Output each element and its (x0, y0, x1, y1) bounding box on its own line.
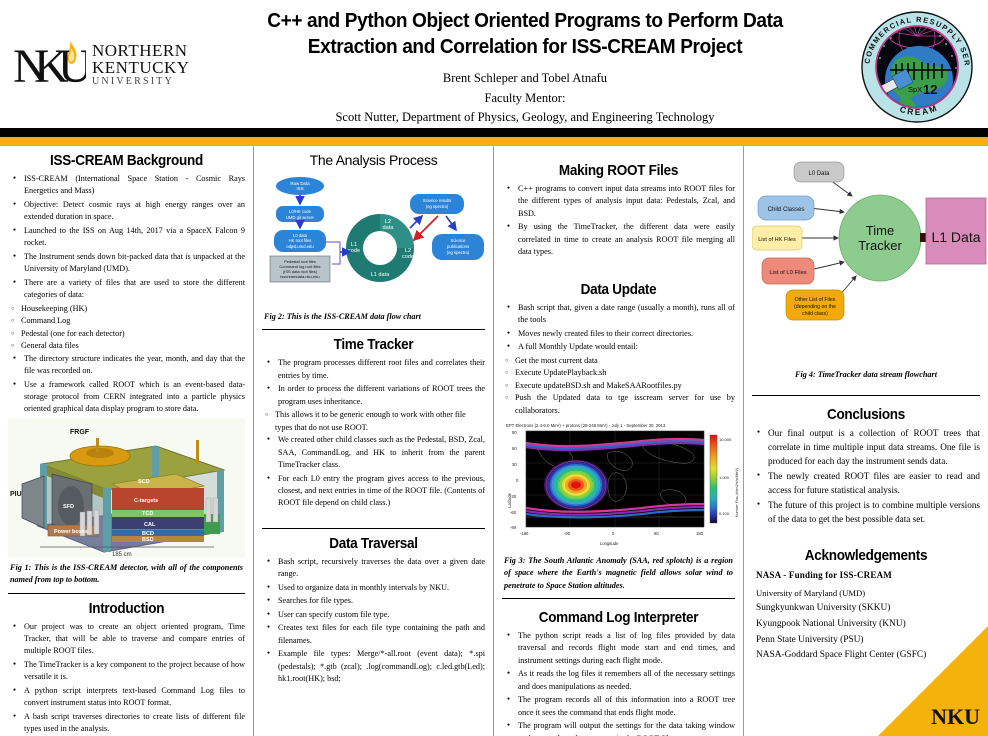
poster-columns: ISS-CREAM Background ISS-CREAM (Internat… (0, 146, 988, 736)
list-item: For each L0 entry the program gives acce… (277, 473, 485, 510)
fig4-node-center-2: Tracker (858, 238, 902, 253)
figure-1-caption: Fig 1: This is the ISS-CREAM detector, w… (10, 562, 243, 587)
list-item: In order to process the different variat… (277, 383, 485, 408)
traversal-bullets: Bash script, recursively traverses the d… (264, 556, 485, 686)
column-2: The Analysis Process L2 data L1 code L2 … (253, 146, 493, 736)
nku-logo-mark-icon: N K U (14, 36, 86, 92)
section-title-conclusions: Conclusions (763, 406, 968, 423)
list-item: We created other child classes such as t… (277, 434, 485, 471)
svg-text:CAL: CAL (144, 522, 156, 528)
list-item: C++ programs to convert input data strea… (517, 183, 735, 220)
command-log-bullets: The python script reads a list of log fi… (504, 630, 735, 736)
svg-text:C-targets: C-targets (134, 498, 158, 504)
poster-authors: Brent Schleper and Tobel Atnafu (205, 69, 845, 88)
fig2-node-l1-data: L1 data (371, 272, 391, 278)
list-item: Push the Updated data to tge isscream se… (515, 392, 735, 417)
colorbar-tick-2: 1.000 (719, 475, 730, 480)
chart-ylabel: Latitude (507, 492, 512, 508)
svg-text:90: 90 (654, 531, 659, 536)
list-item: Searches for file types. (277, 595, 485, 607)
list-item: Execute UpdatePlayback.sh (515, 367, 735, 379)
svg-text:-180: -180 (520, 531, 529, 536)
fig4-node-l0-data: L0 Data (808, 171, 830, 177)
list-item: Housekeeping (HK) (21, 303, 245, 315)
list-item: NASA-Goddard Space Flight Center (GSFC) (756, 648, 980, 663)
section-title-analysis-process: The Analysis Process (262, 152, 485, 168)
data-update-bullets: Bash script that, given a date range (us… (504, 302, 735, 354)
list-item: Execute updateBSD.sh and MakeSAARootfile… (515, 380, 735, 392)
svg-text:90: 90 (512, 430, 517, 435)
svg-text:-90: -90 (564, 531, 571, 536)
nku-wordmark: NORTHERN KENTUCKY UNIVERSITY (92, 42, 190, 87)
divider-conclusions (752, 395, 980, 396)
fig2-node-l1-code-2: code (348, 248, 360, 254)
column-3: Making ROOT Files C++ programs to conver… (493, 146, 743, 736)
list-item: This allows it to be generic enough to w… (275, 409, 485, 434)
nku-word-northern: NORTHERN (92, 42, 190, 59)
poster-root: N K U NORTHERN KENTUCKY UNIVERSITY C++ a… (0, 0, 988, 736)
list-item: Bash script, recursively traverses the d… (277, 556, 485, 581)
list-item: NASA - Funding for ISS-CREAM (756, 568, 980, 583)
data-update-subbullets: Get the most current data Execute Update… (502, 355, 735, 417)
svg-text:BSD: BSD (142, 537, 154, 543)
list-item: A python script interprets text-based Co… (23, 685, 245, 710)
fig4-node-l0-files: List of L0 Files (769, 270, 806, 276)
divider-traversal (262, 528, 485, 529)
fig2-node-science-pubs-2: publications (447, 244, 469, 249)
list-item: Moves newly created files to their corre… (517, 328, 735, 340)
list-item: Get the most current data (515, 355, 735, 367)
fig4-node-output: L1 Data (931, 229, 980, 245)
fig2-node-science-pubs: Science (451, 238, 467, 243)
colorbar-tick-3: 0.100 (719, 511, 730, 516)
nku-word-university: UNIVERSITY (92, 77, 190, 87)
colorbar-label: Number Flux (#/cm2/s/sr/MeV) (735, 468, 739, 517)
fig2-node-l0hk-code-2: UMD git server (286, 215, 315, 220)
svg-text:Power boxes: Power boxes (54, 529, 88, 535)
column-4: L0 Data Child Classes List of HK Files L… (743, 146, 988, 736)
section-title-making-root-files: Making ROOT Files (514, 162, 724, 179)
fig4-node-other-files-3: child class) (802, 311, 828, 317)
list-item: Our project was to create an object orie… (23, 621, 245, 658)
list-item: The program records all of this informat… (517, 694, 735, 719)
fig4-node-other-files-2: (depending on the (794, 304, 836, 310)
fig2-node-science-results-2: (eg spectra) (426, 204, 449, 209)
fig2-node-pedestal-4: isscreamdata.nku.edu (280, 274, 319, 279)
fig2-node-science-pubs-3: (eg spectra) (447, 250, 470, 255)
background-bullets: ISS-CREAM (International Space Station -… (10, 173, 245, 302)
list-item: The future of this project is to combine… (767, 499, 980, 527)
header-gold-rule (0, 137, 988, 146)
list-item: There are a variety of files that are us… (23, 277, 245, 302)
fig2-node-l2-data-2: data (383, 225, 395, 231)
list-item: University of Maryland (UMD) (756, 587, 980, 601)
list-item: The program processes different root fil… (277, 357, 485, 382)
nku-letters-icon: N K U (14, 36, 86, 92)
svg-text:FRGF: FRGF (70, 429, 90, 436)
fig2-node-l0hk-code: L0/HK code (289, 209, 312, 214)
figure-4-timetracker-flowchart: L0 Data Child Classes List of HK Files L… (752, 150, 987, 355)
svg-text:60: 60 (512, 446, 517, 451)
list-item: ISS-CREAM (International Space Station -… (23, 173, 245, 198)
list-item: Kyungpook National University (KNU) (756, 617, 980, 632)
fig4-node-other-files-1: Other List of Files (795, 297, 836, 303)
section-title-background: ISS-CREAM Background (20, 152, 233, 169)
nku-logo: N K U NORTHERN KENTUCKY UNIVERSITY (14, 33, 194, 95)
figure-1-detector-image: SCD C-targets TCD CAL BCD BSD Power boxe… (8, 418, 245, 558)
list-item: Used to organize data in monthly interva… (277, 582, 485, 594)
divider-intro (8, 593, 245, 594)
list-item: Use a framework called ROOT which is an … (23, 379, 245, 416)
svg-text:TCD: TCD (142, 511, 153, 517)
section-title-acknowledgements: Acknowledgements (763, 547, 968, 564)
timetracker-bullets-cont: We created other child classes such as t… (264, 434, 485, 510)
svg-text:185 cm: 185 cm (112, 552, 132, 558)
list-item: The newly created ROOT files are easier … (767, 470, 980, 498)
svg-text:-90: -90 (510, 525, 517, 530)
list-item: A full Monthly Update would entail: (517, 341, 735, 353)
background-bullets-cont: The directory structure indicates the ye… (10, 353, 245, 416)
list-item: The TimeTracker is a key component to th… (23, 659, 245, 684)
figure-2-dataflow-diagram: L2 data L1 code L2 code L1 data Raw Data… (262, 172, 492, 307)
list-item: As it reads the log files it remembers a… (517, 668, 735, 693)
figure-3-caption: Fig 3: The South Atlantic Anomaly (SAA, … (504, 555, 733, 592)
figure-3-saa-plot: EPT Electrons (2.4-6.0 MeV) + protons (2… (502, 419, 742, 551)
making-root-bullets: C++ programs to convert input data strea… (504, 183, 735, 259)
patch-mission-number: 12 (923, 82, 937, 97)
column-1: ISS-CREAM Background ISS-CREAM (Internat… (0, 146, 253, 736)
list-item: General data files (21, 340, 245, 352)
patch-mission-label: SpX (908, 85, 922, 94)
section-title-command-log-interpreter: Command Log Interpreter (514, 609, 724, 626)
colorbar-tick-1: 10.000 (719, 437, 732, 442)
svg-text:SCD: SCD (138, 479, 150, 485)
list-item: By using the TimeTracker, the different … (517, 221, 735, 258)
faculty-mentor-label: Faculty Mentor: (205, 89, 845, 108)
header-black-rule (0, 128, 988, 137)
chart-xlabel: Longitude (600, 541, 619, 546)
timetracker-subbullets: This allows it to be generic enough to w… (262, 409, 485, 434)
list-item: A bash script traverses directories to c… (23, 711, 245, 736)
conclusions-bullets: Our final output is a collection of ROOT… (754, 427, 980, 527)
mission-patch-icon: SpX 12 COMMERCIAL RESUPPLY SERVICES CREA… (856, 8, 978, 126)
list-item: The program will output the settings for… (517, 720, 735, 736)
faculty-mentor-name: Scott Nutter, Department of Physics, Geo… (205, 108, 845, 127)
section-title-time-tracker: Time Tracker (273, 336, 474, 353)
list-item: The python script reads a list of log fi… (517, 630, 735, 667)
svg-text:30: 30 (512, 462, 517, 467)
fig2-node-raw-data-2: ISS (296, 186, 303, 191)
poster-title-line2: Extraction and Correlation for ISS-CREAM… (227, 34, 822, 60)
fig4-node-hk-files: List of HK Files (758, 237, 796, 243)
svg-text:-60: -60 (510, 510, 517, 515)
poster-title-line1: C++ and Python Object Oriented Programs … (227, 8, 822, 34)
list-item: Objective: Detect cosmic rays at high en… (23, 199, 245, 224)
section-title-introduction: Introduction (20, 600, 233, 617)
list-item: Command Log (21, 315, 245, 327)
list-item: Pedestal (one for each detector) (21, 328, 245, 340)
figure-2-caption: Fig 2: This is the ISS-CREAM data flow c… (264, 311, 483, 323)
chart-title: EPT Electrons (2.4-6.0 MeV) + protons (2… (506, 423, 666, 428)
list-item: Bash script that, given a date range (us… (517, 302, 735, 327)
title-block: C++ and Python Object Oriented Programs … (205, 8, 845, 128)
section-title-data-traversal: Data Traversal (273, 535, 474, 552)
list-item: User can specify custom file type. (277, 609, 485, 621)
list-item: The Instrument sends down bit-packed dat… (23, 251, 245, 276)
list-item: Our final output is a collection of ROOT… (767, 427, 980, 469)
acknowledgements-list: NASA - Funding for ISS-CREAM University … (756, 568, 980, 663)
list-item: Example file types: Merge/*-all.root (ev… (277, 648, 485, 685)
divider-command-log (502, 598, 735, 599)
list-item: Sungkyunkwan University (SKKU) (756, 601, 980, 616)
svg-text:SFD: SFD (63, 504, 74, 510)
section-title-data-update: Data Update (514, 281, 724, 298)
timetracker-bullets: The program processes different root fil… (264, 357, 485, 408)
nku-word-kentucky: KENTUCKY (92, 59, 190, 76)
list-item: Penn State University (PSU) (756, 633, 980, 648)
list-item: The directory structure indicates the ye… (23, 353, 245, 378)
poster-header: N K U NORTHERN KENTUCKY UNIVERSITY C++ a… (0, 0, 988, 128)
fig2-node-l0-data-2: HK root files (289, 238, 312, 243)
fig2-node-science-results: Science results (423, 198, 451, 203)
svg-text:PIU: PIU (10, 491, 22, 498)
introduction-bullets: Our project was to create an object orie… (10, 621, 245, 736)
background-subbullets: Housekeeping (HK) Command Log Pedestal (… (8, 303, 245, 353)
list-item: Launched to the ISS on Aug 14th, 2017 vi… (23, 225, 245, 250)
fig2-node-l2-code-2: code (402, 254, 414, 260)
fig4-node-child-classes: Child Classes (768, 207, 805, 213)
fig2-node-l0-data-3: odpsl.umd.edu (286, 244, 314, 249)
divider-timetracker (262, 329, 485, 330)
fig4-node-center-1: Time (866, 223, 894, 238)
list-item: Creates text files for each file type co… (277, 622, 485, 647)
svg-text:180: 180 (696, 531, 704, 536)
figure-4-caption: Fig 4: TimeTracker data stream flowchart (754, 369, 978, 381)
